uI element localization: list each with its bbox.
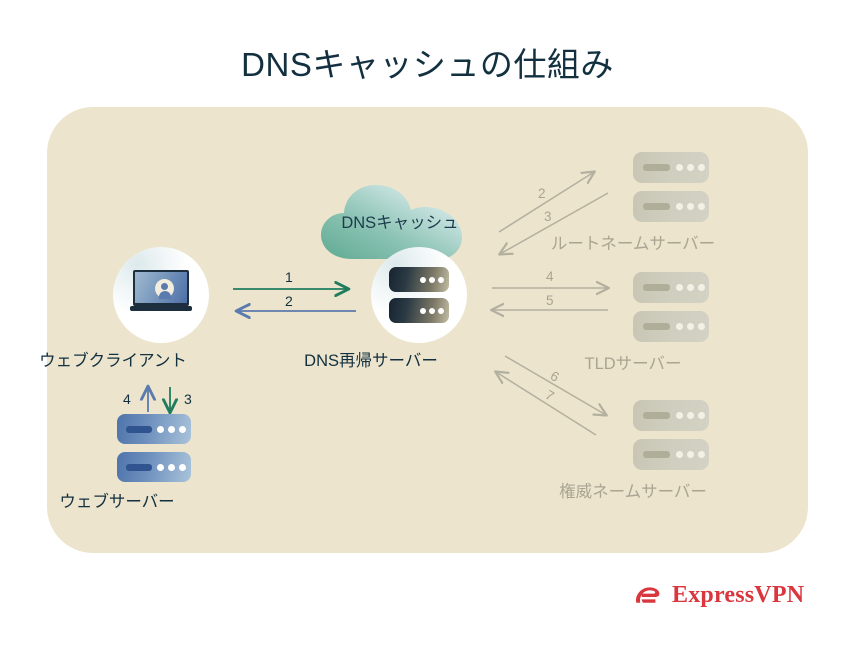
server-icon	[117, 414, 191, 482]
flow-number-root-to-dns: 3	[544, 209, 552, 224]
flow-number-dns-to-root: 2	[538, 186, 546, 201]
node-label-web-client: ウェブクライアント	[39, 347, 187, 371]
flow-number-client-to-server: 3	[184, 391, 192, 407]
node-label-authoritative-name-server: 権威ネームサーバー	[559, 478, 707, 502]
node-dns-cache[interactable]: DNSキャッシュ	[320, 183, 480, 261]
expressvpn-logo[interactable]: ExpressVPN	[633, 580, 804, 610]
flow-number-server-to-client: 4	[123, 391, 131, 407]
flow-number-dns-to-tld: 4	[546, 269, 554, 284]
node-label-dns-recursive: DNS再帰サーバー	[304, 347, 438, 371]
node-label-web-server: ウェブサーバー	[59, 488, 174, 512]
brand-name: ExpressVPN	[672, 582, 804, 609]
node-label-tld-server: TLDサーバー	[584, 350, 681, 374]
flow-number-client-to-dns: 1	[285, 269, 293, 285]
flow-number-tld-to-dns: 5	[546, 293, 554, 308]
server-icon	[389, 267, 449, 323]
expressvpn-e-mark-icon	[633, 580, 663, 610]
laptop-user-icon	[130, 270, 192, 317]
arrow-auth-to-dns	[496, 372, 596, 435]
server-icon	[633, 272, 709, 342]
server-icon	[633, 152, 709, 222]
node-label-root-name-server: ルートネームサーバー	[551, 230, 715, 254]
flow-number-dns-to-client: 2	[285, 293, 293, 309]
node-label-dns-cache: DNSキャッシュ	[341, 209, 458, 233]
server-icon	[633, 400, 709, 470]
